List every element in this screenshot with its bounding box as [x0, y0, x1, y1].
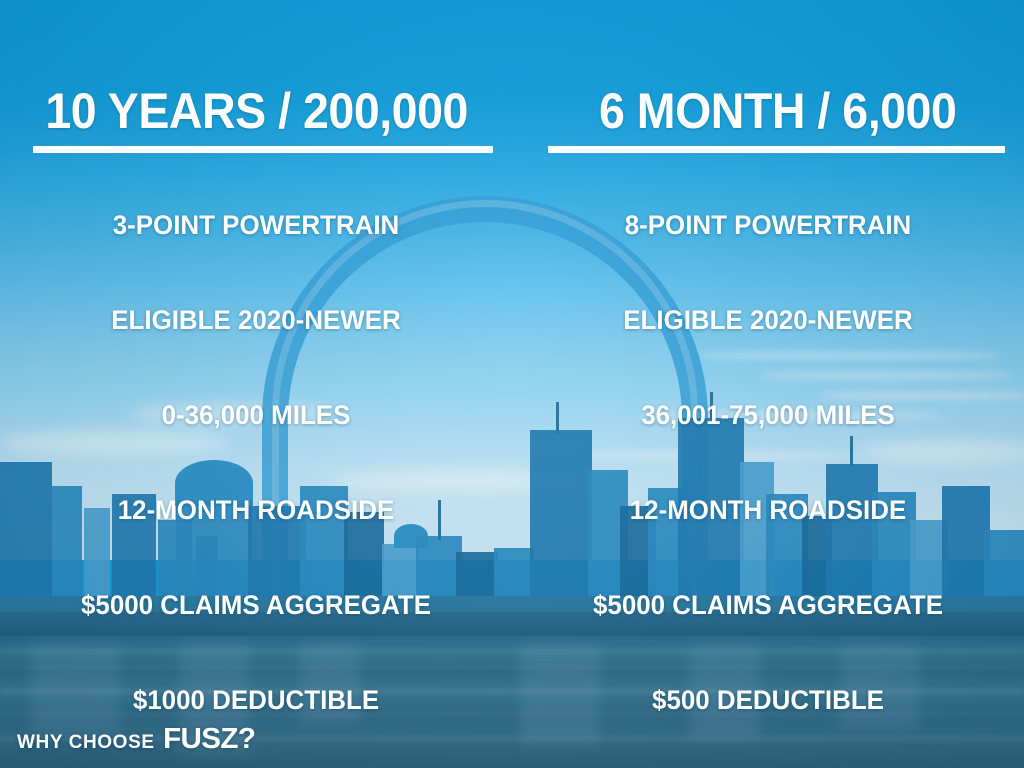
list-item: 36,001-75,000 MILES: [522, 368, 1014, 463]
list-item: $5000 CLAIMS AGGREGATE: [522, 558, 1014, 653]
brand-lockup: WHY CHOOSE FUSZ?: [17, 723, 254, 756]
list-item: $500 DEDUCTIBLE: [522, 653, 1014, 748]
column-feature-list: 8-POINT POWERTRAIN ELIGIBLE 2020-NEWER 3…: [512, 178, 1024, 748]
slide-content: 10 YEARS / 200,000 3-POINT POWERTRAIN EL…: [0, 0, 1024, 768]
brand-name: FUSZ?: [163, 723, 255, 756]
list-item: 12-MONTH ROADSIDE: [522, 463, 1014, 558]
column-headline: 6 MONTH / 6,000: [530, 86, 1015, 136]
headline-underline: [548, 146, 1005, 153]
list-item: 8-POINT POWERTRAIN: [522, 178, 1014, 273]
list-item: 0-36,000 MILES: [10, 368, 502, 463]
list-item: $5000 CLAIMS AGGREGATE: [10, 558, 502, 653]
list-item: ELIGIBLE 2020-NEWER: [10, 273, 502, 368]
warranty-column-ten-year: 10 YEARS / 200,000 3-POINT POWERTRAIN EL…: [0, 0, 512, 768]
headline-underline: [33, 146, 493, 153]
list-item: 12-MONTH ROADSIDE: [10, 463, 502, 558]
list-item: 3-POINT POWERTRAIN: [10, 178, 502, 273]
warranty-comparison-slide: 10 YEARS / 200,000 3-POINT POWERTRAIN EL…: [0, 0, 1024, 768]
column-headline: 10 YEARS / 200,000: [19, 86, 512, 136]
column-feature-list: 3-POINT POWERTRAIN ELIGIBLE 2020-NEWER 0…: [0, 178, 512, 748]
brand-prefix: WHY CHOOSE: [17, 732, 155, 754]
warranty-column-six-month: 6 MONTH / 6,000 8-POINT POWERTRAIN ELIGI…: [512, 0, 1024, 768]
list-item: ELIGIBLE 2020-NEWER: [522, 273, 1014, 368]
